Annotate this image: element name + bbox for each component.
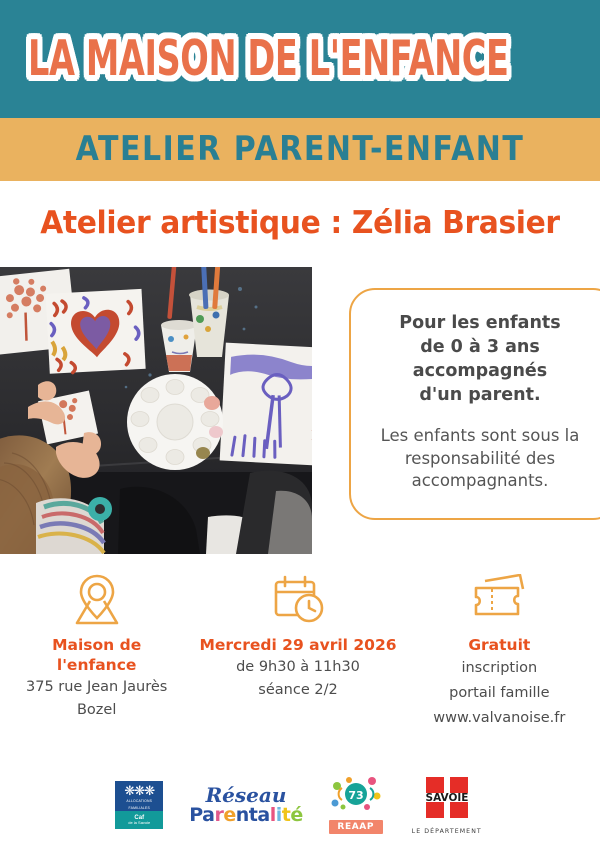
- parentalite-word: Parentalité: [189, 805, 302, 826]
- poster-header: LA MAISON DE L'ENFANCE val vanoise commu…: [0, 0, 600, 118]
- workshop-photo: [0, 267, 312, 554]
- savoie-logo: SAVOIE LE DÉPARTEMENT: [409, 775, 485, 835]
- reseau-word: Réseau: [189, 785, 302, 805]
- date-session: séance 2/2: [258, 679, 337, 702]
- location-column: Maison de l'enfance 375 rue Jean Jaurès …: [0, 572, 197, 762]
- audience-paragraph: Pour les enfants de 0 à 3 ans accompagné…: [369, 312, 591, 408]
- registration-line: inscription: [461, 656, 537, 681]
- caf-logo: ❋❋❋ ALLOCATIONS FAMILIALES Caf de la Sav…: [115, 781, 163, 829]
- poster: LA MAISON DE L'ENFANCE val vanoise commu…: [0, 0, 600, 849]
- date-heading-line-1: Mercredi 29 avril 2026: [199, 636, 396, 656]
- savoie-label: SAVOIE: [425, 792, 468, 804]
- details-columns: Maison de l'enfance 375 rue Jean Jaurès …: [0, 572, 600, 762]
- portal-line: portail famille: [449, 681, 549, 706]
- responsibility-line-3: accompagnants.: [369, 470, 591, 493]
- tickets-icon: [468, 572, 530, 628]
- date-time: de 9h30 à 11h30: [236, 656, 360, 679]
- date-heading: Mercredi 29 avril 2026: [199, 636, 396, 656]
- calendar-clock-icon: [270, 572, 326, 628]
- price-heading-line-1: Gratuit: [468, 636, 530, 656]
- red-cross-icon: SAVOIE: [412, 806, 482, 823]
- location-city: Bozel: [77, 699, 116, 722]
- parentalite-letter: e: [223, 804, 235, 826]
- caf-assoc-line-1: ALLOCATIONS: [126, 799, 152, 803]
- location-address: 375 rue Jean Jaurès: [26, 676, 167, 699]
- reaap-logo: 73 REAAP: [329, 776, 383, 834]
- location-heading-line-1: Maison de: [52, 636, 141, 656]
- colorful-dots-icon: 73: [329, 801, 383, 818]
- parentalite-letter: é: [290, 804, 302, 826]
- responsibility-line-2: responsabilité des: [369, 448, 591, 471]
- parentalite-letter: n: [236, 804, 249, 826]
- website-url[interactable]: www.valvanoise.fr: [433, 706, 565, 731]
- parentalite-letter: a: [202, 804, 214, 826]
- page-title: LA MAISON DE L'ENFANCE: [28, 31, 509, 87]
- price-heading: Gratuit: [468, 636, 530, 656]
- reaap-label: REAAP: [329, 820, 383, 834]
- parentalite-letter: P: [189, 804, 202, 826]
- map-pin-icon: [72, 572, 122, 628]
- subtitle-text: ATELIER PARENT-ENFANT: [76, 130, 525, 169]
- audience-line-4: d'un parent.: [369, 384, 591, 408]
- caf-logo-bottom: Caf de la Savoie: [115, 811, 163, 829]
- savoie-sublabel: LE DÉPARTEMENT: [409, 828, 485, 835]
- reaap-number: 73: [348, 789, 363, 802]
- snowflake-icon: ❋❋❋: [124, 784, 154, 797]
- partner-logos: ❋❋❋ ALLOCATIONS FAMILIALES Caf de la Sav…: [0, 770, 600, 840]
- audience-info-box: Pour les enfants de 0 à 3 ans accompagné…: [349, 288, 600, 520]
- location-heading-line-2: l'enfance: [52, 656, 141, 676]
- parentalite-letter: a: [257, 804, 269, 826]
- audience-line-1: Pour les enfants: [369, 312, 591, 336]
- subtitle-band: ATELIER PARENT-ENFANT: [0, 118, 600, 181]
- location-heading: Maison de l'enfance: [52, 636, 141, 676]
- responsibility-paragraph: Les enfants sont sous la responsabilité …: [369, 425, 591, 493]
- caf-assoc-line-2: FAMILIALES: [129, 806, 150, 810]
- audience-line-3: accompagnés: [369, 360, 591, 384]
- caf-sublabel: de la Savoie: [128, 821, 150, 826]
- responsibility-line-1: Les enfants sont sous la: [369, 425, 591, 448]
- audience-line-2: de 0 à 3 ans: [369, 336, 591, 360]
- date-column: Mercredi 29 avril 2026 de 9h30 à 11h30 s…: [197, 572, 398, 762]
- caf-logo-top: ❋❋❋ ALLOCATIONS FAMILIALES: [115, 781, 163, 811]
- workshop-title: Atelier artistique : Zélia Brasier: [12, 205, 588, 241]
- price-column: Gratuit inscription portail famille www.…: [399, 572, 600, 762]
- reseau-parentalite-logo: Réseau Parentalité: [189, 785, 302, 826]
